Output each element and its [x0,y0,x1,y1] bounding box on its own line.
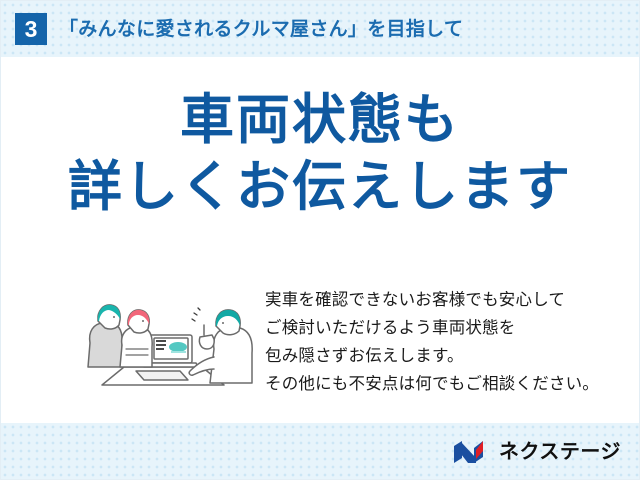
speech-sparkle-icon [192,308,200,321]
headline-line-1: 車両状態も [1,93,639,160]
nextage-n-mark-icon [452,439,492,465]
page-headline: 車両状態も 詳しくお伝えします [1,93,639,214]
body-copy-line-4: その他にも不安点は何でもご相談ください。 [265,370,615,398]
step-number-badge: 3 [15,13,47,45]
brand-name: ネクステージ [499,442,621,462]
header-title: 「みんなに愛されるクルマ屋さん」を目指して [59,14,463,46]
body-copy: 実車を確認できないお客様でも安心して ご検討いただけるよう車両状態を 包み隠さず… [265,286,615,398]
brand-logo: ネクステージ [452,437,621,467]
consultation-illustration [64,277,262,397]
headline-line-2: 詳しくお伝えします [1,160,639,214]
advertisement-page: 3 「みんなに愛されるクルマ屋さん」を目指して 車両状態も 詳しくお伝えします [0,0,640,480]
body-copy-line-1: 実車を確認できないお客様でも安心して [265,286,615,314]
body-copy-line-2: ご検討いただけるよう車両状態を [265,314,615,342]
consultation-illustration-svg [64,277,262,397]
body-copy-line-3: 包み隠さずお伝えします。 [265,342,615,370]
